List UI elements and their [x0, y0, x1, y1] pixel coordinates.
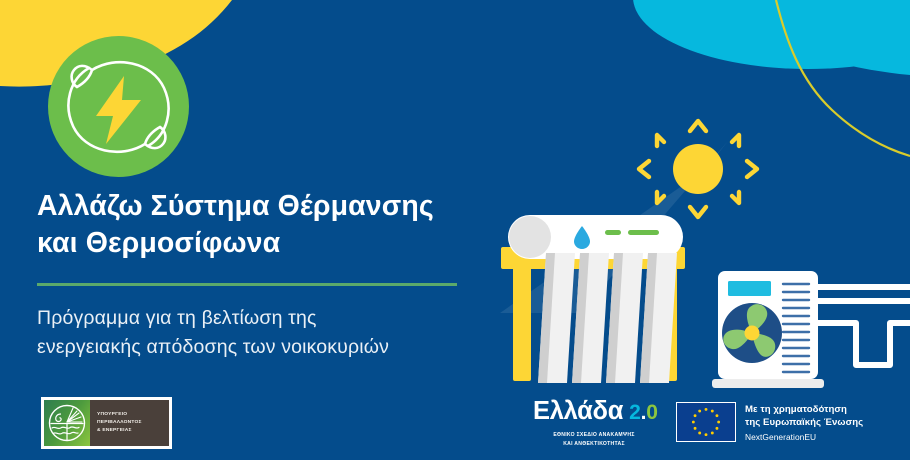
heat-pump-base: [712, 379, 824, 388]
solar-water-heater-icon: [501, 215, 685, 383]
ministry-line-2: ΠΕΡΙΒΑΛΛΟΝΤΟΣ: [97, 419, 169, 427]
ministry-logo: ΥΠΟΥΡΓΕΙΟ ΠΕΡΙΒΑΛΛΟΝΤΟΣ & ΕΝΕΡΓΕΙΑΣ: [41, 397, 172, 449]
eco-energy-badge: [48, 36, 189, 177]
emblem-waves: [51, 424, 83, 441]
eu-programme-name: NextGenerationEU: [745, 432, 863, 442]
headline-block: Αλλάζω Σύστημα Θέρμανσης και Θερμοσίφωνα: [37, 188, 507, 263]
eu-funding-line-2: της Ευρωπαϊκής Ένωσης: [745, 416, 863, 429]
heater-collector-tubes: [538, 253, 677, 383]
sun-icon: [639, 121, 757, 217]
greece-2-0-logo: Ελλάδα 2.0 ΕΘΝΙΚΟ ΣΧΕΔΙΟ ΑΝΑΚΑΜΨΗΣ ΚΑΙ Α…: [533, 399, 655, 447]
title-divider: [37, 283, 457, 286]
emblem-spiral: [56, 414, 61, 422]
eu-funding-logo: Με τη χρηματοδότηση της Ευρωπαϊκής Ένωση…: [676, 402, 863, 442]
ministry-line-1: ΥΠΟΥΡΓΕΙΟ: [97, 411, 169, 419]
greece-name-text: Ελλάδα: [533, 399, 623, 425]
greece-version-zero: 0: [646, 401, 657, 424]
page-subtitle: Πρόγραμμα για τη βελτίωση της ενεργειακή…: [37, 304, 497, 362]
ministry-emblem-box: [44, 400, 90, 446]
heat-pump-display-panel: [728, 281, 771, 296]
ministry-environment-emblem: [44, 400, 90, 446]
heat-pump-icon: [712, 271, 910, 388]
heater-frame-leg-left: [513, 263, 531, 381]
heater-indicator-2: [628, 230, 659, 235]
greece-wordmark: Ελλάδα 2.0: [533, 399, 655, 428]
ministry-line-3: & ΕΝΕΡΓΕΙΑΣ: [97, 427, 169, 435]
cyan-arc-shape: [721, 0, 910, 75]
eu-funding-line-1: Με τη χρηματοδότηση: [745, 403, 863, 416]
greece-tagline: ΕΘΝΙΚΟ ΣΧΕΔΙΟ ΑΝΑΚΑΜΨΗΣ ΚΑΙ ΑΝΘΕΚΤΙΚΟΤΗΤ…: [533, 431, 655, 449]
page-title: Αλλάζω Σύστημα Θέρμανσης και Θερμοσίφωνα: [37, 188, 507, 263]
eu-text-block: Με τη χρηματοδότηση της Ευρωπαϊκής Ένωση…: [745, 402, 863, 442]
heat-pump-fan-hub: [745, 326, 760, 341]
greece-version-two: 2: [629, 401, 640, 424]
sun-disc: [673, 144, 723, 194]
greece-version-text: 2.0: [629, 402, 658, 423]
eu-stars: [692, 408, 720, 436]
eu-flag-icon: [676, 402, 736, 442]
cyan-dome: [633, 0, 910, 69]
energy-illustration: [470, 95, 910, 395]
heat-pump-pipes: [814, 287, 910, 365]
ministry-text-box: ΥΠΟΥΡΓΕΙΟ ΠΕΡΙΒΑΛΛΟΝΤΟΣ & ΕΝΕΡΓΕΙΑΣ: [90, 400, 169, 446]
heater-indicator-1: [605, 230, 621, 235]
heater-tank-end-cap: [509, 216, 551, 258]
promo-banner: Αλλάζω Σύστημα Θέρμανσης και Θερμοσίφωνα…: [0, 0, 910, 460]
